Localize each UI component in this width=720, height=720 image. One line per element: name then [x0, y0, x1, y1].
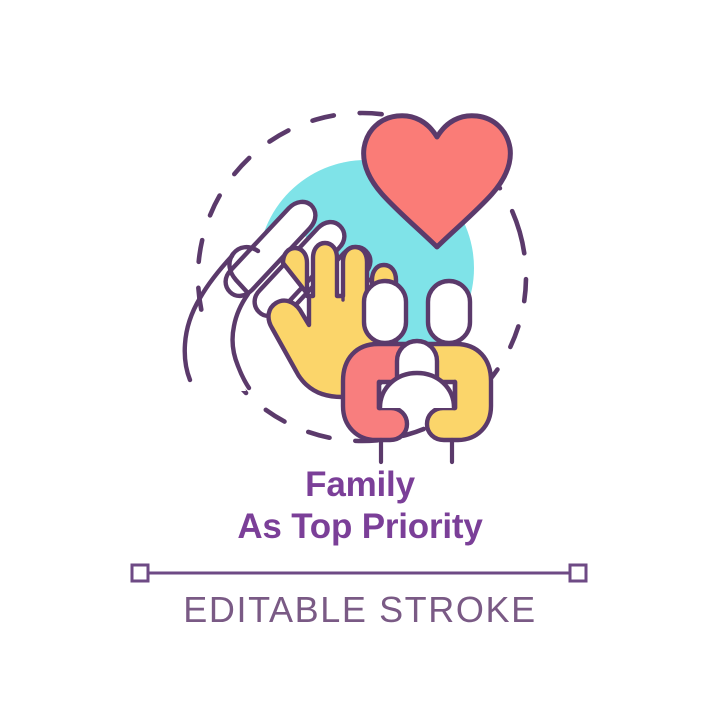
family-as-top-priority-concept-illustration [0, 0, 720, 470]
editable-stroke-divider [0, 562, 720, 584]
divider-graphic [0, 562, 720, 584]
icon-canvas: Family As Top Priority EDITABLE STROKE [0, 0, 720, 720]
parent-right-head-icon [428, 281, 470, 343]
caption-block: Family As Top Priority [0, 466, 720, 545]
page-title-line-1: Family [0, 466, 720, 503]
square-marker-right [570, 565, 586, 581]
parent-left-head-icon [364, 281, 406, 343]
square-marker-left [132, 565, 148, 581]
page-title-line-2: As Top Priority [0, 508, 720, 545]
editable-stroke-label: EDITABLE STROKE [0, 589, 720, 631]
illustration-area [0, 0, 720, 470]
